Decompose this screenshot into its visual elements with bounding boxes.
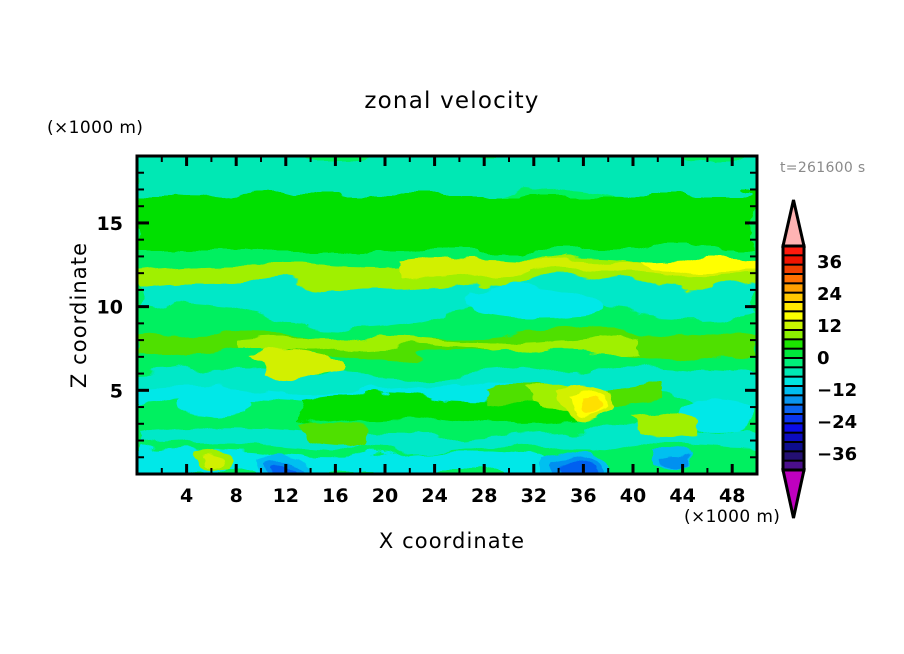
x-tick-label: 44 [669, 485, 695, 507]
colorbar-tick-label: 24 [817, 284, 842, 305]
y-tick-label: 10 [97, 297, 123, 319]
x-tick-label: 32 [521, 485, 547, 507]
colorbar-tick-label: 12 [817, 316, 842, 337]
y-tick-label: 5 [110, 380, 123, 402]
y-axis-label: Z coordinate [67, 242, 91, 388]
colorbar-tick-label: −24 [817, 412, 857, 433]
x-tick-label: 36 [570, 485, 596, 507]
time-annotation: t=261600 s [780, 160, 865, 176]
x-tick-label: 16 [322, 485, 348, 507]
colorbar-tick-label: 0 [817, 348, 830, 369]
colorbar-tick-label: −36 [817, 444, 857, 465]
x-tick-label: 40 [620, 485, 646, 507]
page-title: zonal velocity [364, 88, 539, 114]
contour-plot-figure: zonal velocity (×1000 m) [0, 0, 904, 654]
contour-field [137, 155, 757, 474]
colorbar-tick-label: 36 [817, 252, 842, 273]
x-tick-label: 48 [719, 485, 745, 507]
x-tick-label: 8 [230, 485, 243, 507]
colorbar-tick-label: −12 [817, 380, 857, 401]
x-tick-label: 12 [273, 485, 299, 507]
x-tick-label: 4 [180, 485, 193, 507]
x-tick-label: 24 [421, 485, 447, 507]
y-axis-unit-label: (×1000 m) [47, 118, 143, 138]
x-tick-label: 28 [471, 485, 497, 507]
y-tick-label: 15 [97, 213, 123, 235]
x-tick-label: 20 [372, 485, 398, 507]
x-axis-unit-label: (×1000 m) [684, 507, 780, 527]
x-axis-label: X coordinate [379, 529, 525, 553]
colorbar[interactable] [783, 200, 804, 518]
